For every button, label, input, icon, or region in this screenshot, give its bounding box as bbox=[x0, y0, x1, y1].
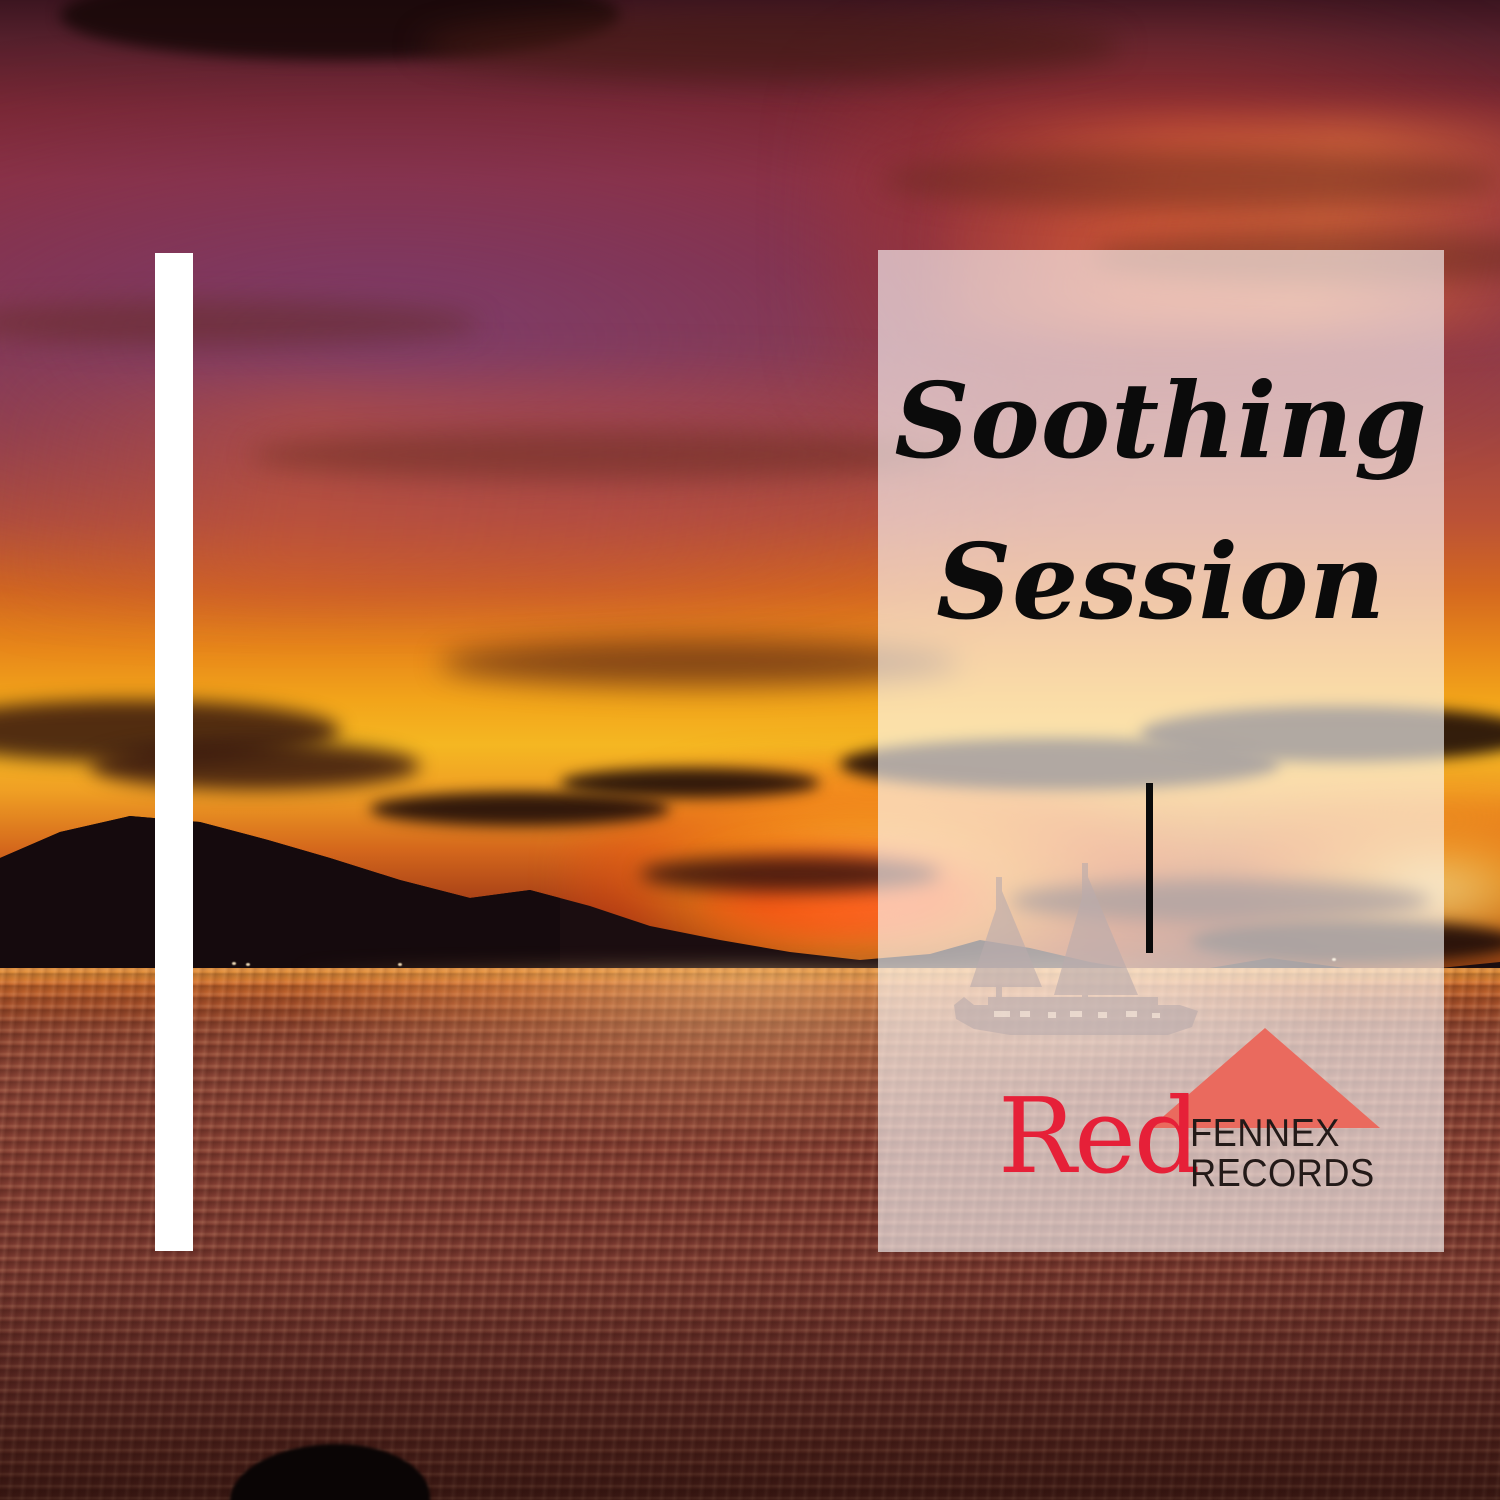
album-cover-artwork: Soothing Session Red FENNEX RECORDS bbox=[0, 0, 1500, 1500]
album-title-line-1: Soothing bbox=[878, 340, 1444, 501]
label-subline-1: FENNEX bbox=[1190, 1114, 1375, 1154]
cloud-band bbox=[880, 150, 1500, 210]
album-title-line-2: Session bbox=[878, 501, 1444, 662]
label-wordmark: Red bbox=[998, 1084, 1198, 1188]
sea-foreground-shadow bbox=[0, 1270, 1500, 1500]
white-vertical-bar bbox=[155, 253, 193, 1251]
shore-light bbox=[232, 962, 236, 965]
title-panel: Soothing Session Red FENNEX RECORDS bbox=[878, 250, 1444, 1252]
shore-light bbox=[398, 963, 402, 966]
album-title: Soothing Session bbox=[878, 340, 1444, 662]
label-subline-2: RECORDS bbox=[1190, 1154, 1375, 1194]
label-sublines: FENNEX RECORDS bbox=[1190, 1114, 1389, 1194]
sky-mid-streak bbox=[0, 380, 1000, 610]
shore-light bbox=[246, 963, 250, 966]
panel-divider-tick bbox=[1146, 783, 1153, 953]
cloud-band bbox=[420, 10, 1120, 80]
record-label-logo: Red FENNEX RECORDS bbox=[998, 1028, 1408, 1203]
cloud-band bbox=[250, 430, 950, 480]
